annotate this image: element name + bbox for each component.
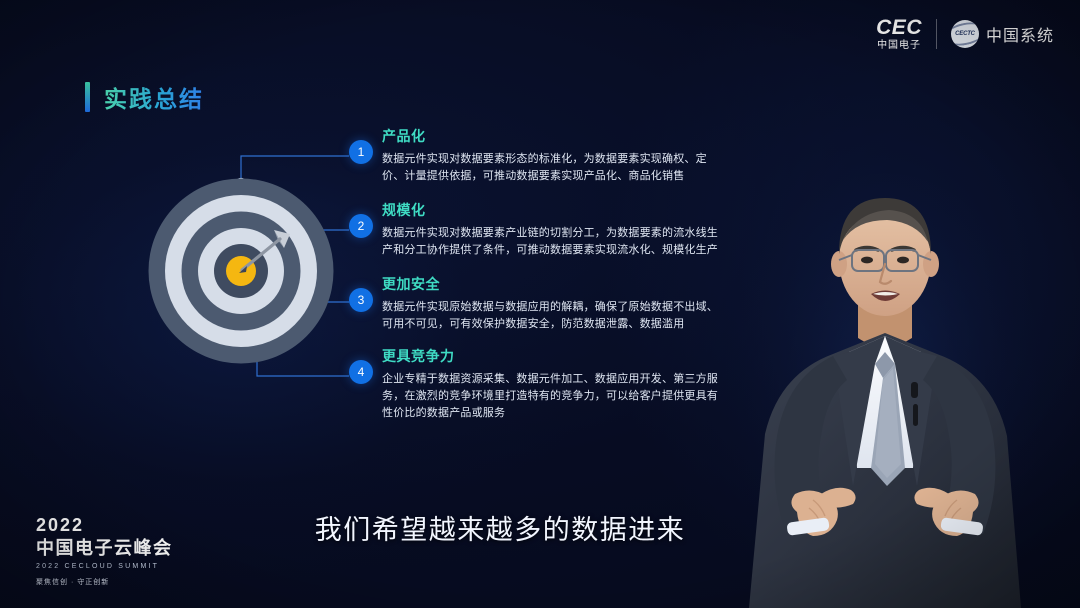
header-logo-bar: CEC 中国电子 CECTC 中国系统 (876, 14, 1054, 54)
item-number-badge: 1 (349, 140, 373, 164)
item-body: 更加安全 数据元件实现原始数据与数据应用的解耦，确保了原始数据不出域、可用不可见… (382, 274, 729, 333)
item-description: 数据元件实现对数据要素形态的标准化，为数据要素实现确权、定价、计量提供依据，可推… (382, 151, 729, 185)
item-number-badge: 4 (349, 360, 373, 384)
summit-year: 2022 (36, 516, 173, 534)
cec-logo: CEC 中国电子 (876, 17, 922, 51)
summit-tagline: 聚焦信创 · 守正创新 (36, 579, 173, 586)
item-body: 更具竞争力 企业专精于数据资源采集、数据元件加工、数据应用开发、第三方服务，在激… (382, 346, 729, 422)
logo-divider (936, 19, 937, 49)
dartboard-bullseye (226, 256, 256, 286)
speaker-photo (725, 168, 1045, 608)
slide-title: 实践总结 (85, 80, 204, 114)
dartboard-graphic (148, 178, 333, 363)
title-accent-bar (85, 82, 90, 112)
summary-item-1: 1 产品化 数据元件实现对数据要素形态的标准化，为数据要素实现确权、定价、计量提… (349, 126, 729, 185)
summary-item-4: 4 更具竞争力 企业专精于数据资源采集、数据元件加工、数据应用开发、第三方服务，… (349, 346, 729, 422)
item-heading: 规模化 (382, 200, 729, 220)
china-system-label: 中国系统 (986, 22, 1054, 46)
cec-logo-subtitle: 中国电子 (877, 41, 921, 51)
item-heading: 更加安全 (382, 274, 729, 294)
china-system-logo: CECTC 中国系统 (951, 20, 1054, 48)
item-heading: 更具竞争力 (382, 346, 729, 366)
item-description: 数据元件实现对数据要素产业链的切割分工，为数据要素的流水线生产和分工协作提供了条… (382, 225, 729, 259)
summit-name-cn: 中国电子云峰会 (36, 539, 173, 557)
presentation-slide: CEC 中国电子 CECTC 中国系统 实践总结 (0, 0, 1080, 608)
item-description: 企业专精于数据资源采集、数据元件加工、数据应用开发、第三方服务，在激烈的竞争环境… (382, 371, 729, 422)
item-description: 数据元件实现原始数据与数据应用的解耦，确保了原始数据不出域、可用不可见，可有效保… (382, 299, 729, 333)
china-system-badge-text: CECTC (955, 31, 975, 37)
summit-logo: 2022 中国电子云峰会 2022 CECLOUD SUMMIT 聚焦信创 · … (36, 516, 173, 586)
item-heading: 产品化 (382, 126, 729, 146)
item-body: 产品化 数据元件实现对数据要素形态的标准化，为数据要素实现确权、定价、计量提供依… (382, 126, 729, 185)
cec-logo-mark: CEC (876, 17, 922, 38)
summit-name-en: 2022 CECLOUD SUMMIT (36, 563, 173, 570)
item-body: 规模化 数据元件实现对数据要素产业链的切割分工，为数据要素的流水线生产和分工协作… (382, 200, 729, 259)
summary-item-2: 2 规模化 数据元件实现对数据要素产业链的切割分工，为数据要素的流水线生产和分工… (349, 200, 729, 259)
globe-icon: CECTC (951, 20, 979, 48)
item-number-badge: 2 (349, 214, 373, 238)
caption-text: 我们希望越来越多的数据进来 (315, 508, 686, 547)
summary-item-3: 3 更加安全 数据元件实现原始数据与数据应用的解耦，确保了原始数据不出域、可用不… (349, 274, 729, 333)
page-title: 实践总结 (104, 80, 204, 114)
item-number-badge: 3 (349, 288, 373, 312)
